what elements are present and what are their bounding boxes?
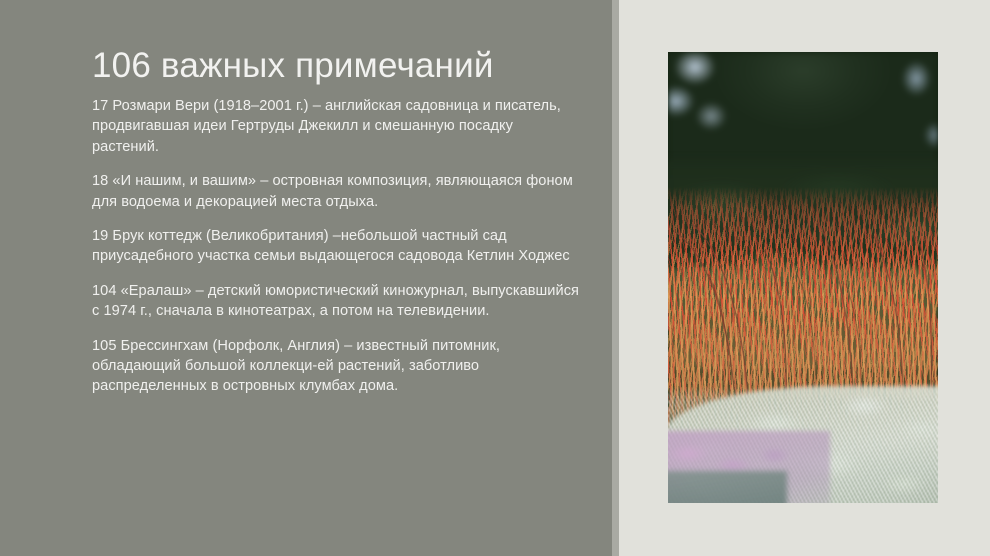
photo-content [668, 52, 938, 503]
note-item: 18 «И нашим, и вашим» – островная композ… [92, 171, 584, 212]
note-item: 17 Розмари Вери (1918–2001 г.) – английс… [92, 96, 584, 157]
note-item: 104 «Ералаш» – детский юмористический ки… [92, 281, 584, 322]
note-item: 105 Брессингхам (Норфолк, Англия) – изве… [92, 336, 584, 397]
panel-divider [612, 0, 619, 556]
page-title: 106 важных примечаний [92, 44, 584, 88]
slide: 106 важных примечаний 17 Розмари Вери (1… [0, 0, 990, 556]
note-item: 19 Брук коттедж (Великобритания) –неболь… [92, 226, 584, 267]
photo-vignette [668, 52, 938, 503]
garden-photo [668, 52, 938, 503]
text-column: 106 важных примечаний 17 Розмари Вери (1… [92, 44, 584, 397]
